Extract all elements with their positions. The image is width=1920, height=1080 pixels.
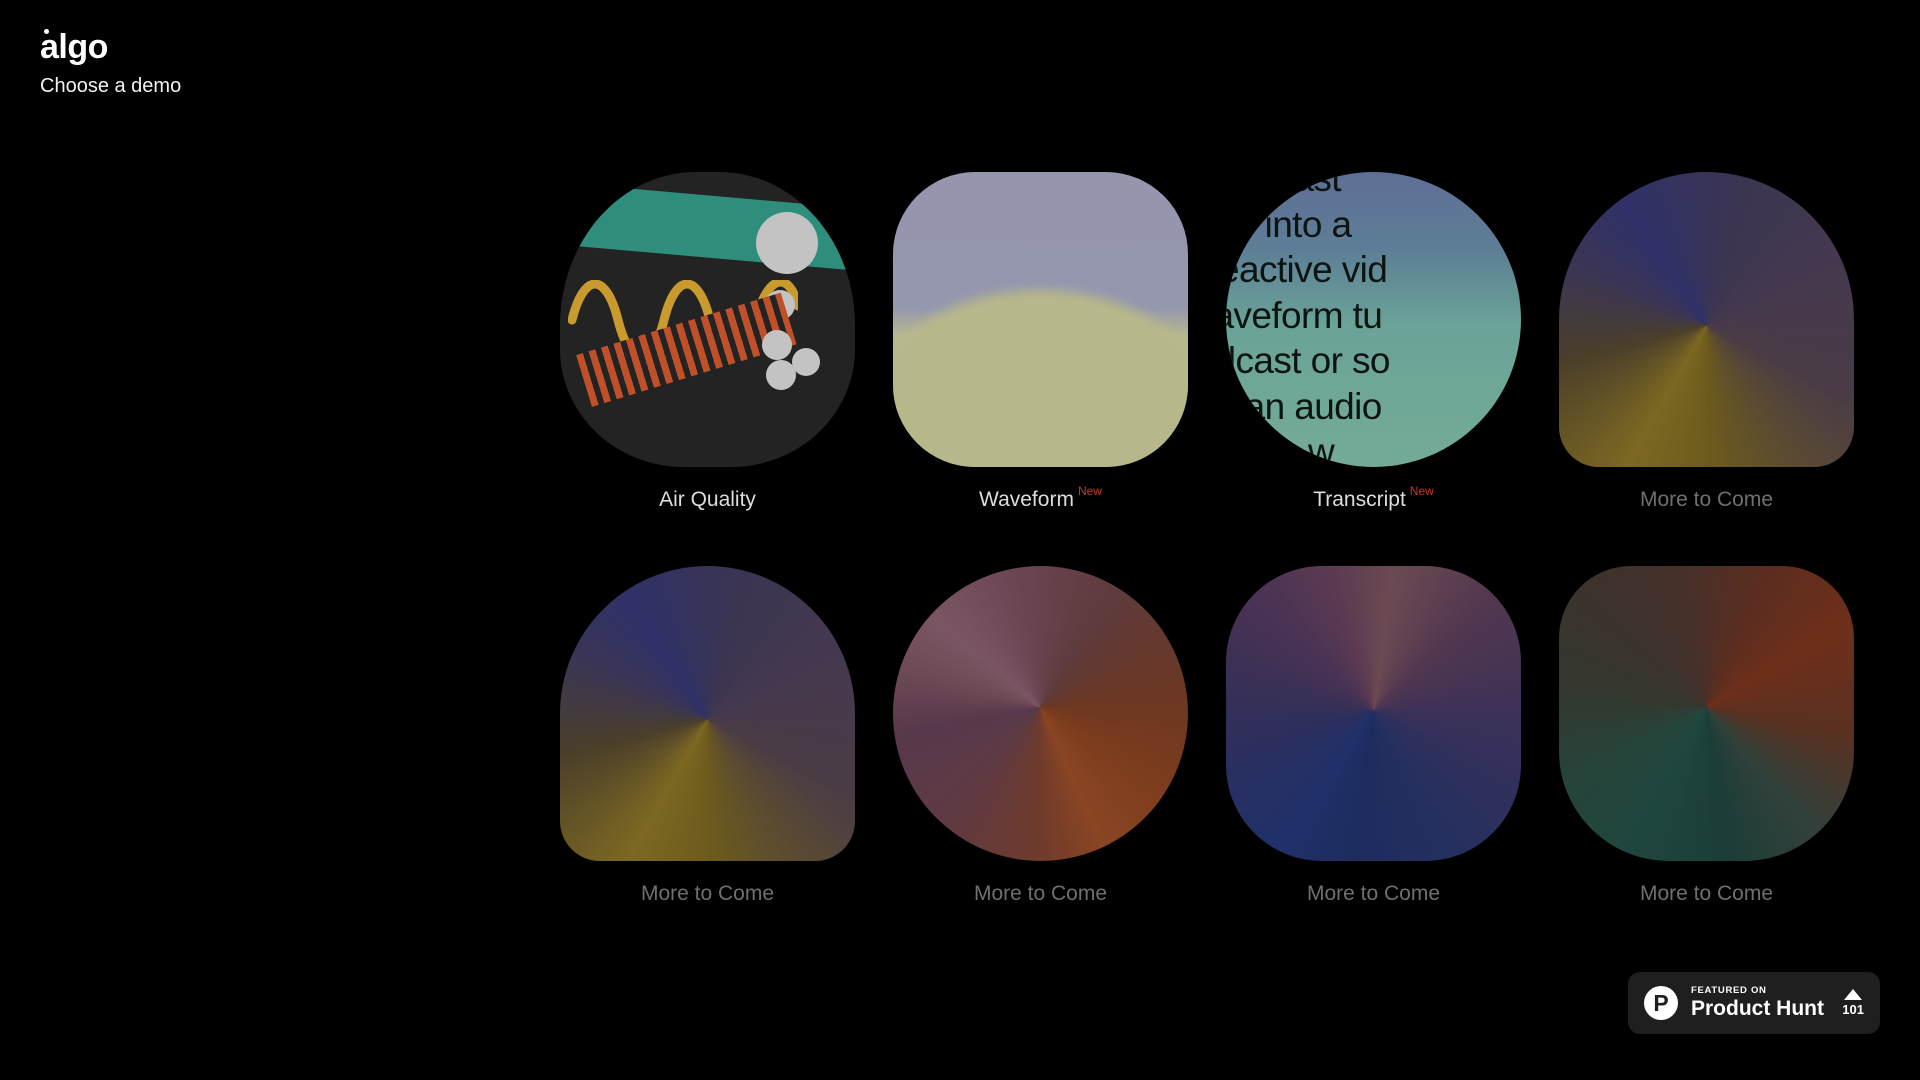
card-label-row: More to Come — [641, 883, 774, 904]
logo-dot-icon — [44, 29, 49, 34]
large-sphere-icon — [756, 212, 818, 274]
demo-card-transcript[interactable]: any podcast nd bite into a dio-reactive … — [1226, 172, 1521, 510]
thumbnail-placeholder-gradient[interactable] — [893, 566, 1188, 861]
thumbnail-air-quality[interactable] — [560, 172, 855, 467]
new-badge: New — [1078, 485, 1102, 497]
page-subtitle: Choose a demo — [40, 75, 181, 98]
demo-card-waveform[interactable]: Waveform New — [893, 172, 1188, 510]
small-sphere-icon-3 — [766, 360, 796, 390]
thumbnail-placeholder-gradient[interactable] — [1559, 566, 1854, 861]
demo-card-more-to-come-3[interactable]: More to Come — [893, 566, 1188, 904]
thumbnail-transcript[interactable]: any podcast nd bite into a dio-reactive … — [1226, 172, 1521, 467]
transcript-line: tive video w — [1226, 429, 1521, 467]
card-label-row: More to Come — [974, 883, 1107, 904]
waveform-hill-shape — [893, 290, 1188, 467]
upvote-triangle-icon[interactable] — [1844, 989, 1862, 1000]
product-hunt-logo-icon: P — [1644, 986, 1678, 1020]
new-badge: New — [1410, 485, 1434, 497]
transcript-line: e into an audio — [1226, 384, 1521, 430]
transcript-line: nd bite into a — [1226, 202, 1521, 248]
card-label-row: Air Quality — [659, 489, 756, 510]
product-hunt-badge[interactable]: P FEATURED ON Product Hunt 101 — [1628, 972, 1880, 1034]
product-hunt-text: FEATURED ON Product Hunt — [1691, 985, 1829, 1021]
small-sphere-icon-2 — [792, 348, 820, 376]
card-label: More to Come — [1307, 883, 1440, 904]
app-logo: algo — [40, 30, 108, 66]
upvote-count: 101 — [1842, 1002, 1864, 1017]
transcript-text-block: any podcast nd bite into a dio-reactive … — [1226, 172, 1521, 467]
card-label-row: More to Come — [1640, 489, 1773, 510]
upvote-control[interactable]: 101 — [1842, 989, 1864, 1017]
card-label: Waveform — [979, 489, 1074, 510]
card-label-row: More to Come — [1640, 883, 1773, 904]
card-label: More to Come — [1640, 489, 1773, 510]
product-hunt-logo-letter: P — [1653, 992, 1668, 1015]
card-label: More to Come — [641, 883, 774, 904]
thumbnail-waveform[interactable] — [893, 172, 1188, 467]
demo-card-more-to-come-1[interactable]: More to Come — [1559, 172, 1854, 510]
transcript-line: th waveform tu — [1226, 293, 1521, 339]
transcript-line: any podcast — [1226, 172, 1521, 202]
card-label-row: Transcript New — [1313, 489, 1434, 510]
card-label: More to Come — [974, 883, 1107, 904]
demo-card-air-quality[interactable]: Air Quality — [560, 172, 855, 510]
page-header: algo Choose a demo — [40, 30, 181, 98]
thumbnail-placeholder-gradient[interactable] — [1226, 566, 1521, 861]
transcript-line: y podcast or so — [1226, 338, 1521, 384]
card-label: Air Quality — [659, 489, 756, 510]
demo-card-more-to-come-5[interactable]: More to Come — [1559, 566, 1854, 904]
small-sphere-icon-1 — [762, 330, 792, 360]
demo-grid: Air Quality Waveform New any podcast nd … — [560, 172, 1880, 904]
demo-card-more-to-come-4[interactable]: More to Come — [1226, 566, 1521, 904]
logo-text: algo — [40, 28, 108, 66]
card-label: More to Come — [1640, 883, 1773, 904]
demo-card-more-to-come-2[interactable]: More to Come — [560, 566, 855, 904]
app-root: algo Choose a demo Air Quality — [0, 0, 1920, 1080]
thumbnail-placeholder-gradient[interactable] — [560, 566, 855, 861]
featured-on-label: FEATURED ON — [1691, 985, 1829, 996]
product-hunt-name: Product Hunt — [1691, 997, 1829, 1021]
thumbnail-placeholder-gradient[interactable] — [1559, 172, 1854, 467]
card-label: Transcript — [1313, 489, 1406, 510]
card-label-row: More to Come — [1307, 883, 1440, 904]
transcript-line: dio-reactive vid — [1226, 247, 1521, 293]
card-label-row: Waveform New — [979, 489, 1102, 510]
